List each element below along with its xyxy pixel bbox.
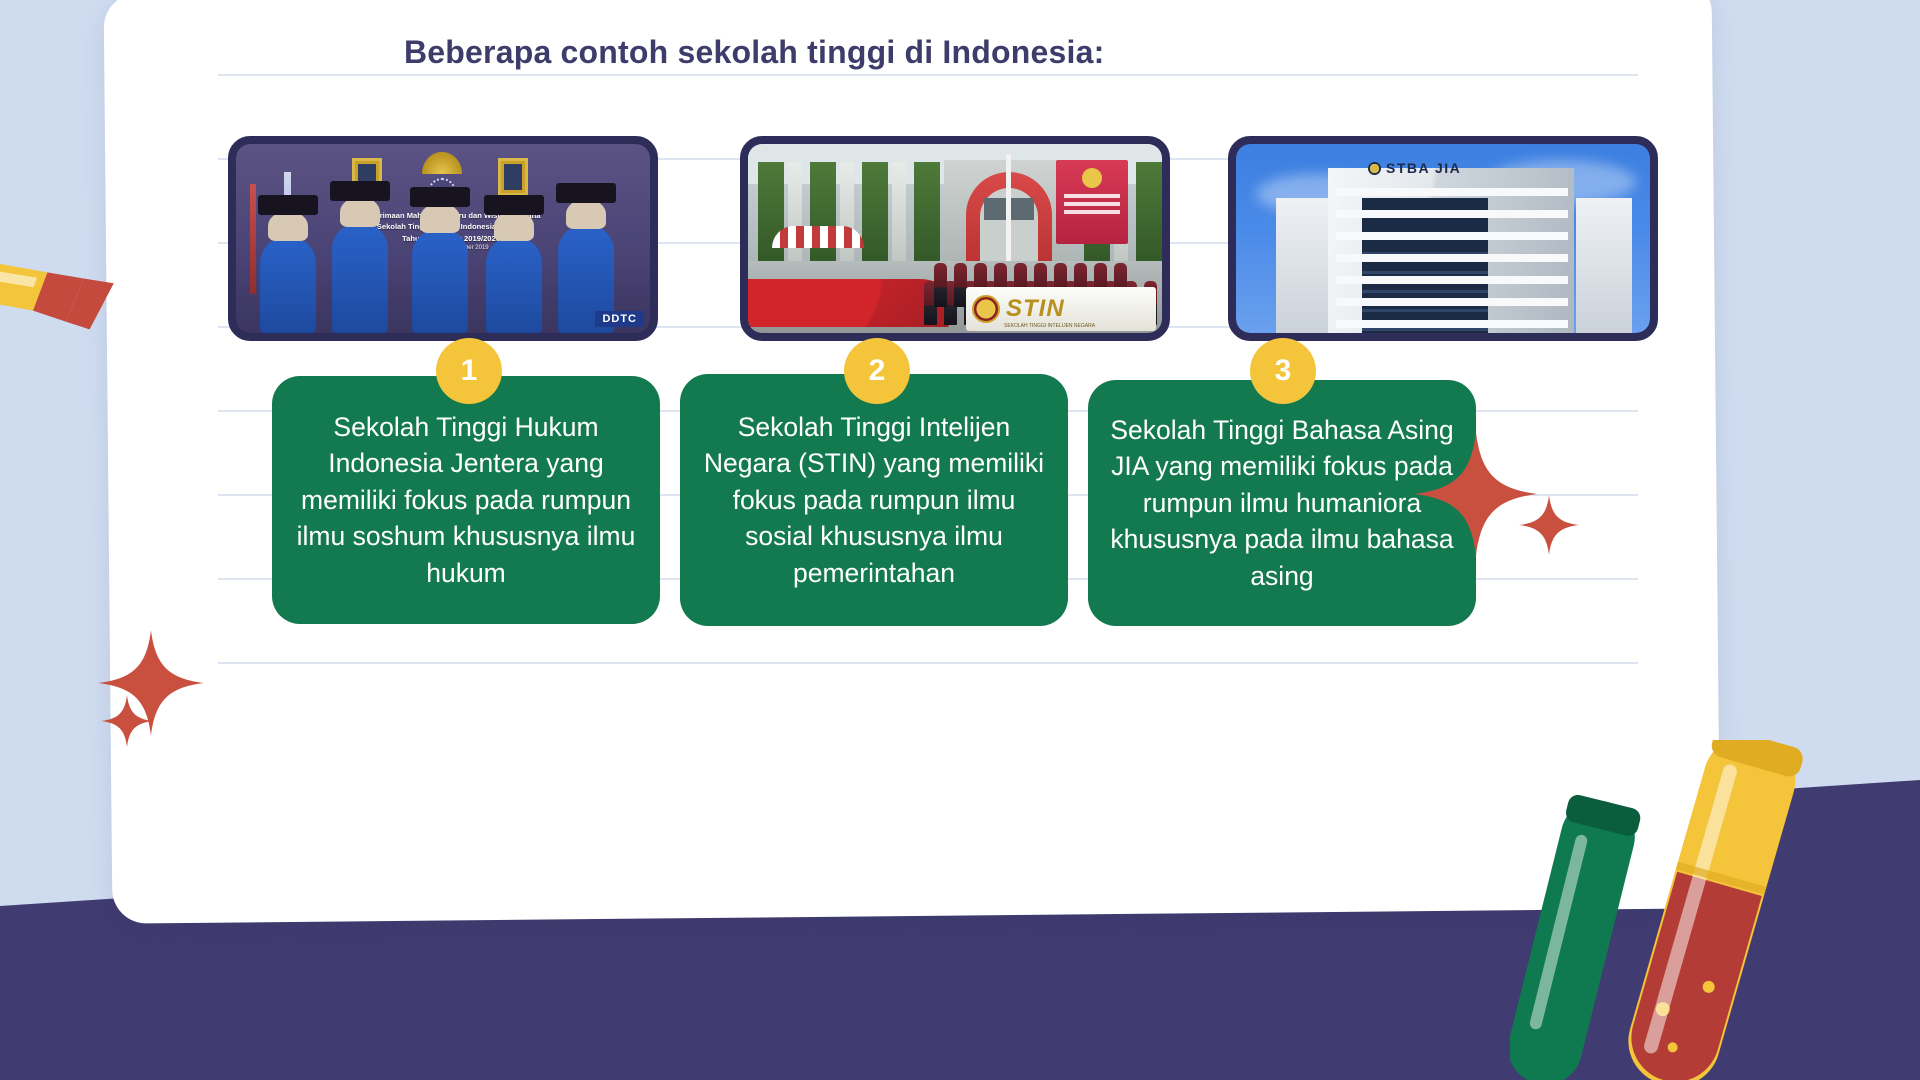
green-test-tube-icon [1510,793,1642,1080]
number-badge-2: 2 [844,338,910,404]
yellow-test-tube-icon [1618,740,1806,1080]
red-sparkle-icon [1518,494,1580,556]
description-card-2[interactable]: Sekolah Tinggi Intelijen Negara (STIN) y… [680,374,1068,626]
description-card-1[interactable]: Sekolah Tinggi Hukum Indonesia Jentera y… [272,376,660,624]
red-sparkle-icon [100,694,154,748]
number-badge-1: 1 [436,338,502,404]
test-tubes-group [1510,740,1920,1080]
red-pencil-icon [0,252,116,402]
number-badge-3: 3 [1250,338,1316,404]
